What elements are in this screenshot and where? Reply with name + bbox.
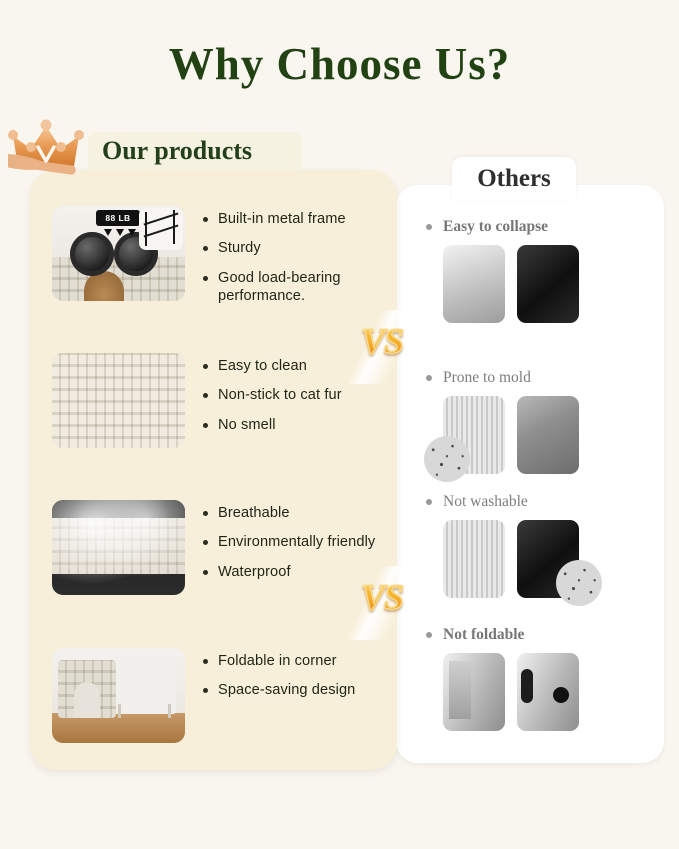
list-item: Environmentally friendly xyxy=(201,533,383,551)
collapsed-white-fabric-photo xyxy=(443,245,505,323)
product-row-3: Breathable Environmentally friendly Wate… xyxy=(52,500,383,595)
list-item: Foldable in corner xyxy=(201,652,383,670)
others-tab-label: Others xyxy=(477,165,551,193)
product-bullets-1: Built-in metal frame Sturdy Good load-be… xyxy=(201,206,383,317)
others-row-4: Not foldable xyxy=(424,626,644,731)
collapsed-black-fabric-photo xyxy=(517,245,579,323)
others-row-label: Easy to collapse xyxy=(424,218,644,236)
product-row-1: 88 LB Built-in metal frame Sturdy Good l… xyxy=(52,206,383,317)
products-tab: Our products xyxy=(88,132,302,170)
vs-badge-top: VS xyxy=(349,310,415,384)
crown-icon xyxy=(8,116,88,178)
product-foldable-corner-photo xyxy=(52,648,185,743)
list-item: No smell xyxy=(201,416,383,434)
infographic-page: Why Choose Us? Others Our products xyxy=(0,0,679,849)
product-breathable-weave-photo xyxy=(52,500,185,595)
others-row-1: Easy to collapse xyxy=(424,218,644,323)
vs-label: VS xyxy=(349,320,415,362)
metal-frame-inset-icon xyxy=(139,208,183,250)
stain-detail-circle xyxy=(556,560,602,606)
product-metal-frame-photo: 88 LB xyxy=(52,206,185,301)
list-item: Space-saving design xyxy=(201,681,383,699)
product-woven-surface-photo xyxy=(52,353,185,448)
others-row-2: Prone to mold xyxy=(424,369,644,474)
rigid-metal-box-photo xyxy=(517,653,579,731)
page-title: Why Choose Us? xyxy=(0,38,679,90)
others-row-3: Not washable xyxy=(424,493,644,598)
others-row-label: Not washable xyxy=(424,493,644,511)
others-row-label: Prone to mold xyxy=(424,369,644,387)
vs-badge-bottom: VS xyxy=(349,566,415,640)
mold-detail-circle xyxy=(424,436,470,482)
list-item: Non-stick to cat fur xyxy=(201,386,383,404)
product-row-4: Foldable in corner Space-saving design xyxy=(52,648,383,743)
moldy-surface-photo xyxy=(517,396,579,474)
products-tab-label: Our products xyxy=(102,136,252,166)
ribbed-fabric-photo xyxy=(443,520,505,598)
list-item: Built-in metal frame xyxy=(201,210,383,228)
others-tab: Others xyxy=(452,157,576,201)
others-row-label: Not foldable xyxy=(424,626,644,644)
vs-label: VS xyxy=(349,576,415,618)
rigid-box-photo xyxy=(443,653,505,731)
product-bullets-4: Foldable in corner Space-saving design xyxy=(201,648,383,743)
product-row-2: Easy to clean Non-stick to cat fur No sm… xyxy=(52,353,383,448)
list-item: Sturdy xyxy=(201,239,383,257)
list-item: Good load-bearing performance. xyxy=(201,269,383,306)
list-item: Breathable xyxy=(201,504,383,522)
